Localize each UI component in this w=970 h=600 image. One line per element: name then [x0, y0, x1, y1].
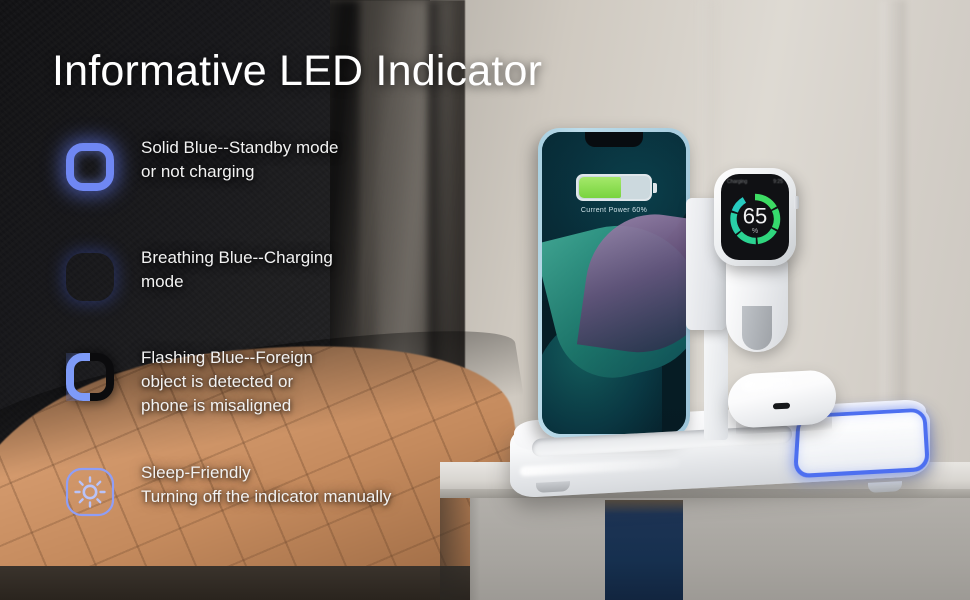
- feature-label-breathing-blue: Breathing Blue--Charging mode: [141, 242, 333, 294]
- watch-screen: Charging 9:25 65 %: [721, 174, 789, 260]
- nightstand-shadow: [440, 498, 480, 600]
- charger-foot-right: [868, 481, 902, 493]
- feature-label-sleep-friendly: Sleep-Friendly Turning off the indicator…: [141, 457, 391, 509]
- smartwatch-device: Charging 9:25 65 %: [714, 168, 796, 266]
- led-ring-solid-icon: [55, 132, 125, 202]
- watch-battery-unit: %: [721, 228, 789, 235]
- watch-crown: [794, 196, 799, 209]
- usb-c-port-icon: [773, 403, 790, 410]
- floor-strip-shadow: [0, 566, 470, 600]
- feature-label-solid-blue: Solid Blue--Standby mode or not charging: [141, 132, 339, 184]
- phone-device: Current Power 60%: [538, 128, 690, 438]
- feature-item-sleep-friendly: Sleep-Friendly Turning off the indicator…: [55, 457, 391, 527]
- feature-item-flashing-blue: Flashing Blue--Foreign object is detecte…: [55, 342, 313, 418]
- brightness-sun-glyph: [65, 467, 115, 517]
- battery-cap: [653, 183, 657, 193]
- battery-fill: [579, 177, 621, 198]
- watch-charging-status: Charging: [727, 179, 747, 185]
- nightstand-body: [470, 498, 970, 600]
- watch-time: 9:25: [773, 179, 783, 185]
- led-ring-flashing-icon: [55, 342, 125, 412]
- brightness-sun-icon: [55, 457, 125, 527]
- feature-item-breathing-blue: Breathing Blue--Charging mode: [55, 242, 333, 312]
- wireless-charging-station: Current Power 60% Charging 9:25: [490, 110, 950, 500]
- feature-label-flashing-blue: Flashing Blue--Foreign object is detecte…: [141, 342, 313, 418]
- watch-battery-value: 65: [721, 206, 789, 228]
- phone-notch: [585, 132, 643, 147]
- watch-band-inner: [742, 306, 772, 350]
- watch-status-bar: Charging 9:25: [727, 179, 783, 185]
- page-title: Informative LED Indicator: [52, 47, 542, 96]
- nightstand-drawer-gap: [605, 500, 683, 600]
- phone-battery-indicator: Current Power 60%: [576, 174, 652, 214]
- battery-icon: [576, 174, 652, 201]
- feature-item-solid-blue: Solid Blue--Standby mode or not charging: [55, 132, 339, 202]
- phone-screen: Current Power 60%: [542, 132, 686, 434]
- led-ring-breathing-icon: [55, 242, 125, 312]
- battery-status-text: Current Power 60%: [576, 207, 652, 214]
- product-feature-banner: Informative LED Indicator Solid Blue--St…: [0, 0, 970, 600]
